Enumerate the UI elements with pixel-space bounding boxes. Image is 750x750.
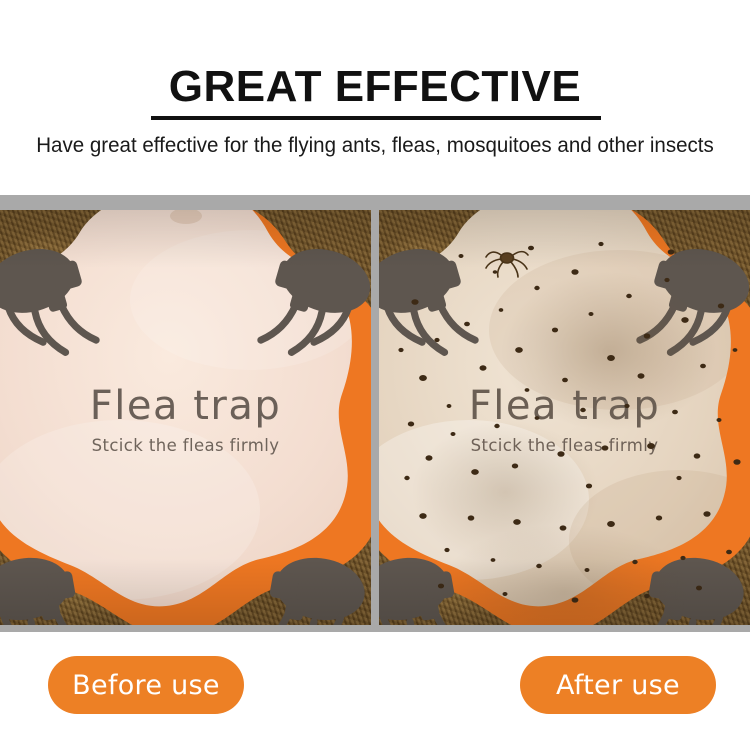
before-photo-panel: Flea trap Stcick the fleas firmly (0, 210, 371, 625)
strip-bottom-band (0, 625, 750, 632)
page-subtitle: Have great effective for the flying ants… (17, 133, 733, 158)
title-underline-rule (151, 116, 601, 120)
sticky-pad-used (379, 210, 750, 625)
after-use-label: After use (520, 656, 716, 714)
page-title: GREAT EFFECTIVE (0, 62, 750, 112)
before-after-comparison: Flea trap Stcick the fleas firmly (0, 195, 750, 632)
before-use-label: Before use (48, 656, 244, 714)
sticky-pad-clean (0, 210, 371, 625)
header-section: GREAT EFFECTIVE Have great effective for… (0, 0, 750, 195)
after-photo-panel: Flea trap Stcick the fleas firmly (379, 210, 750, 625)
strip-center-divider (371, 195, 379, 632)
